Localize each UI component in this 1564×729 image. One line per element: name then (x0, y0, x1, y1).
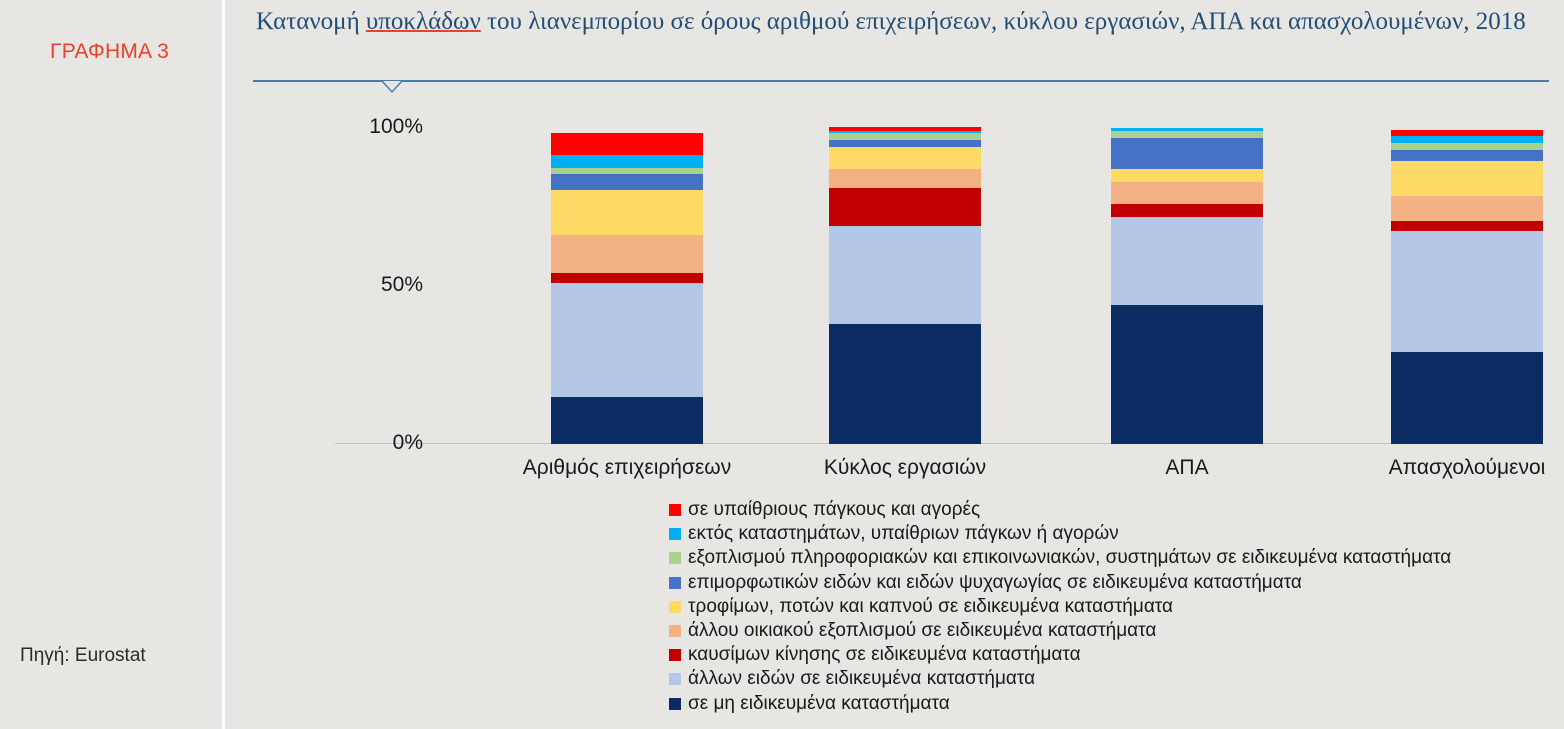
bar-segment[interactable] (551, 190, 703, 236)
legend-swatch-icon (669, 552, 681, 564)
bar-group-1[interactable] (551, 133, 703, 444)
bar-segment[interactable] (1391, 161, 1543, 196)
legend-label: άλλων ειδών σε ειδικευμένα καταστήματα (688, 668, 1035, 690)
legend-swatch-icon (669, 625, 681, 637)
legend-label: σε υπαίθριους πάγκους και αγορές (688, 499, 980, 521)
bar-segment[interactable] (829, 133, 981, 140)
title-rule (253, 80, 1549, 82)
legend-swatch-icon (669, 673, 681, 685)
plot-area: 100%50%0% (335, 128, 1520, 444)
y-axis-tick-50: 50% (335, 273, 423, 297)
bar-segment[interactable] (829, 226, 981, 324)
bar-segment[interactable] (1391, 221, 1543, 230)
legend-swatch-icon (669, 577, 681, 589)
bar-segment[interactable] (1391, 150, 1543, 161)
bar-segment[interactable] (1391, 352, 1543, 444)
chart-legend: σε υπαίθριους πάγκους και αγορέςεκτός κα… (669, 498, 1451, 716)
bar-segment[interactable] (1391, 136, 1543, 143)
bar-segment[interactable] (1111, 169, 1263, 182)
rail-divider (222, 0, 225, 729)
bar-segment[interactable] (1391, 231, 1543, 353)
legend-label: καυσίμων κίνησης σε ειδικευμένα καταστήμ… (688, 644, 1081, 666)
legend-swatch-icon (669, 504, 681, 516)
bar-segment[interactable] (1111, 217, 1263, 305)
legend-item[interactable]: εξοπλισμού πληροφοριακών και επικοινωνια… (669, 546, 1451, 570)
legend-label: επιμορφωτικών ειδών και ειδών ψυχαγωγίας… (688, 572, 1302, 594)
bar-group-2[interactable] (829, 127, 981, 444)
legend-label: τροφίμων, ποτών και καπνού σε ειδικευμέν… (688, 596, 1173, 618)
chart-title-underlined: υποκλάδων (366, 8, 481, 35)
legend-item[interactable]: άλλου οικιακού εξοπλισμού σε ειδικευμένα… (669, 619, 1451, 643)
bar-segment[interactable] (829, 140, 981, 147)
bar-segment[interactable] (1111, 182, 1263, 204)
bar-segment[interactable] (1391, 196, 1543, 221)
legend-label: εκτός καταστημάτων, υπαίθριων πάγκων ή α… (688, 523, 1119, 545)
bar-segment[interactable] (551, 397, 703, 444)
bar-segment[interactable] (1111, 138, 1263, 170)
legend-label: άλλου οικιακού εξοπλισμού σε ειδικευμένα… (688, 620, 1156, 642)
y-axis-tick-100: 100% (335, 115, 423, 139)
bar-segment[interactable] (829, 324, 981, 444)
bar-segment[interactable] (1111, 305, 1263, 444)
bar-segment[interactable] (551, 283, 703, 397)
legend-swatch-icon (669, 528, 681, 540)
bar-segment[interactable] (551, 174, 703, 190)
bar-segment[interactable] (829, 147, 981, 169)
bar-segment[interactable] (1111, 131, 1263, 138)
left-rail: ΓΡΑΦΗΜΑ 3 Πηγή: Eurostat (0, 0, 219, 729)
bar-segment[interactable] (1111, 204, 1263, 217)
y-axis-ticks: 100%50%0% (335, 128, 435, 458)
y-axis-tick-0: 0% (335, 431, 423, 455)
title-caret-icon (381, 81, 403, 93)
chart-title-before: Κατανομή (256, 8, 366, 35)
bar-segment[interactable] (551, 235, 703, 273)
source-note: Πηγή: Eurostat (20, 645, 146, 667)
x-axis-label-4: Απασχολούμενοι (1227, 456, 1564, 480)
legend-item[interactable]: σε υπαίθριους πάγκους και αγορές (669, 498, 1451, 522)
bar-segment[interactable] (551, 155, 703, 168)
bar-segment[interactable] (551, 133, 703, 155)
legend-item[interactable]: άλλων ειδών σε ειδικευμένα καταστήματα (669, 667, 1451, 691)
legend-item[interactable]: εκτός καταστημάτων, υπαίθριων πάγκων ή α… (669, 522, 1451, 546)
legend-item[interactable]: τροφίμων, ποτών και καπνού σε ειδικευμέν… (669, 595, 1451, 619)
legend-item[interactable]: επιμορφωτικών ειδών και ειδών ψυχαγωγίας… (669, 571, 1451, 595)
bar-segment[interactable] (829, 169, 981, 188)
bar-group-4[interactable] (1391, 130, 1543, 444)
bar-segment[interactable] (829, 188, 981, 226)
chart-title-after: του λιανεμπορίου σε όρους αριθμού επιχει… (481, 8, 1526, 35)
legend-swatch-icon (669, 698, 681, 710)
legend-item[interactable]: καυσίμων κίνησης σε ειδικευμένα καταστήμ… (669, 643, 1451, 667)
bar-segment[interactable] (1391, 143, 1543, 150)
figure-label: ΓΡΑΦΗΜΑ 3 (0, 40, 219, 64)
bar-group-3[interactable] (1111, 128, 1263, 444)
chart-panel: Κατανομή υποκλάδων του λιανεμπορίου σε ό… (235, 0, 1564, 729)
legend-label: εξοπλισμού πληροφοριακών και επικοινωνια… (688, 547, 1451, 569)
bar-segment[interactable] (551, 273, 703, 282)
legend-label: σε μη ειδικευμένα καταστήματα (688, 693, 950, 715)
legend-swatch-icon (669, 649, 681, 661)
legend-swatch-icon (669, 601, 681, 613)
legend-item[interactable]: σε μη ειδικευμένα καταστήματα (669, 692, 1451, 716)
chart-title: Κατανομή υποκλάδων του λιανεμπορίου σε ό… (256, 6, 1546, 38)
